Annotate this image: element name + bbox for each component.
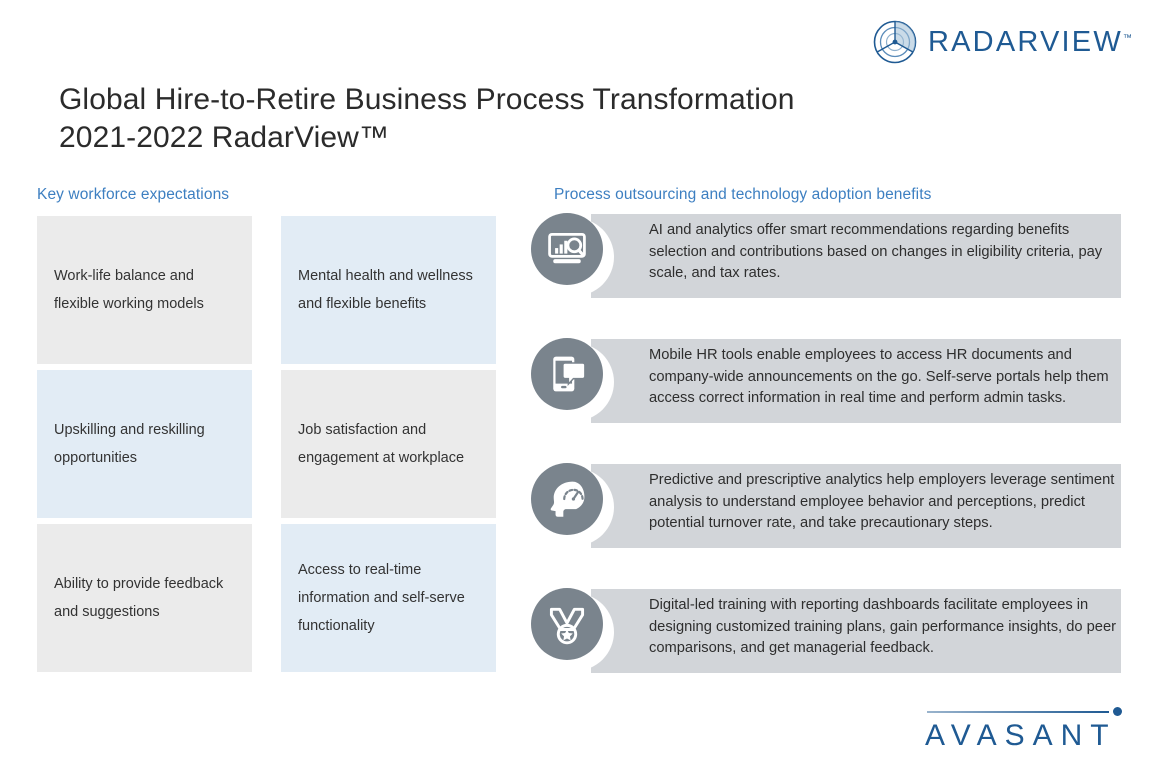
expectation-card-text: Access to real-time information and self…: [298, 556, 479, 640]
expectation-card: Upskilling and reskilling opportunities: [37, 370, 252, 518]
expectation-card-text: Upskilling and reskilling opportunities: [54, 416, 235, 472]
page-title: Global Hire-to-Retire Business Process T…: [59, 81, 959, 157]
benefit-row: Predictive and prescriptive analytics he…: [531, 458, 1131, 566]
right-section-heading: Process outsourcing and technology adopt…: [554, 186, 931, 204]
benefit-text: Mobile HR tools enable employees to acce…: [649, 345, 1127, 410]
benefit-row: Digital-led training with reporting dash…: [531, 583, 1131, 691]
benefit-icon-badge: [531, 463, 615, 547]
radarview-trademark: ™: [1123, 32, 1132, 42]
avasant-dot-icon: [1113, 707, 1122, 716]
expectation-card-text: Mental health and wellness and flexible …: [298, 262, 479, 318]
avasant-logo: AVASANT: [915, 703, 1130, 755]
benefits-list: AI and analytics offer smart recommendat…: [531, 208, 1131, 708]
benefit-icon-badge: [531, 588, 615, 672]
benefit-row: Mobile HR tools enable employees to acce…: [531, 333, 1131, 441]
benefit-text: AI and analytics offer smart recommendat…: [649, 220, 1127, 285]
benefit-text: Predictive and prescriptive analytics he…: [649, 470, 1127, 535]
benefit-row: AI and analytics offer smart recommendat…: [531, 208, 1131, 316]
head-gauge-icon: [531, 463, 603, 535]
expectation-card: Work-life balance and flexible working m…: [37, 216, 252, 364]
mobile-chat-icon: [531, 338, 603, 410]
page-title-line-2: 2021-2022 RadarView™: [59, 119, 959, 157]
avasant-wordmark: AVASANT: [925, 719, 1117, 753]
radar-target-icon: [872, 19, 918, 65]
expectation-card-text: Ability to provide feedback and suggesti…: [54, 570, 235, 626]
left-section-heading: Key workforce expectations: [37, 186, 229, 204]
expectation-card-text: Job satisfaction and engagement at workp…: [298, 416, 479, 472]
key-workforce-expectations-grid: Work-life balance and flexible working m…: [37, 216, 511, 672]
expectation-card-text: Work-life balance and flexible working m…: [54, 262, 235, 318]
radarview-wordmark: RADARVIEW™: [928, 26, 1132, 59]
radarview-wordmark-text: RADARVIEW: [928, 26, 1123, 58]
benefit-icon-badge: [531, 213, 615, 297]
benefit-icon-badge: [531, 338, 615, 422]
dashboard-analytics-icon: [531, 213, 603, 285]
benefit-text: Digital-led training with reporting dash…: [649, 595, 1127, 660]
expectation-card: Access to real-time information and self…: [281, 524, 496, 672]
medal-award-icon: [531, 588, 603, 660]
expectation-card: Ability to provide feedback and suggesti…: [37, 524, 252, 672]
expectation-card: Job satisfaction and engagement at workp…: [281, 370, 496, 518]
radarview-logo: RADARVIEW™: [872, 18, 1134, 66]
page-title-line-1: Global Hire-to-Retire Business Process T…: [59, 81, 959, 119]
avasant-rule: [927, 711, 1109, 713]
expectation-card: Mental health and wellness and flexible …: [281, 216, 496, 364]
